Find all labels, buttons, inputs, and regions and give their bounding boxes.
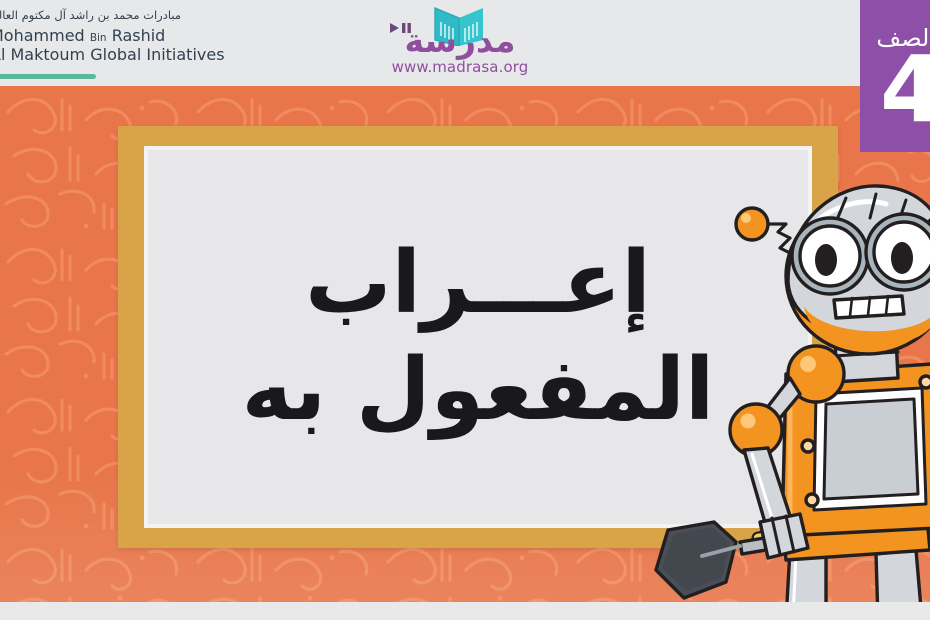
madrasa-url[interactable]: www.madrasa.org: [380, 58, 540, 76]
header-bar: مبادرات محمد بن راشد آل مكتوم العالمية M…: [0, 0, 930, 86]
mbr-en-end: Rashid: [112, 26, 166, 45]
robot-head: [736, 186, 930, 354]
mbr-en-main: Mohammed: [0, 26, 85, 45]
grade-badge-number: 4: [860, 44, 930, 136]
bottom-strip: [0, 602, 930, 620]
mbr-logo-accent-rule: [0, 74, 96, 79]
mbr-en-small: Bin: [90, 32, 107, 44]
mbr-logo-english-line-2: Al Maktoum Global Initiatives: [0, 45, 225, 64]
mbr-logo-english-line-1: Mohammed Bin Rashid: [0, 26, 165, 45]
slide-canvas: إعـــراب المفعول به: [0, 0, 930, 620]
robot-mascot: [640, 178, 930, 620]
slide-title-line-1: إعـــراب: [305, 233, 651, 334]
grade-badge: الصف 4: [860, 0, 930, 152]
madrasa-wordmark: مدرسة: [380, 24, 540, 57]
mbr-logo-arabic: مبادرات محمد بن راشد آل مكتوم العالمية: [0, 8, 181, 22]
madrasa-logo[interactable]: مدرسة www.madrasa.org: [380, 4, 540, 82]
robot-antenna: [736, 208, 792, 254]
mbr-global-initiatives-logo: مبادرات محمد بن راشد آل مكتوم العالمية M…: [0, 8, 193, 78]
